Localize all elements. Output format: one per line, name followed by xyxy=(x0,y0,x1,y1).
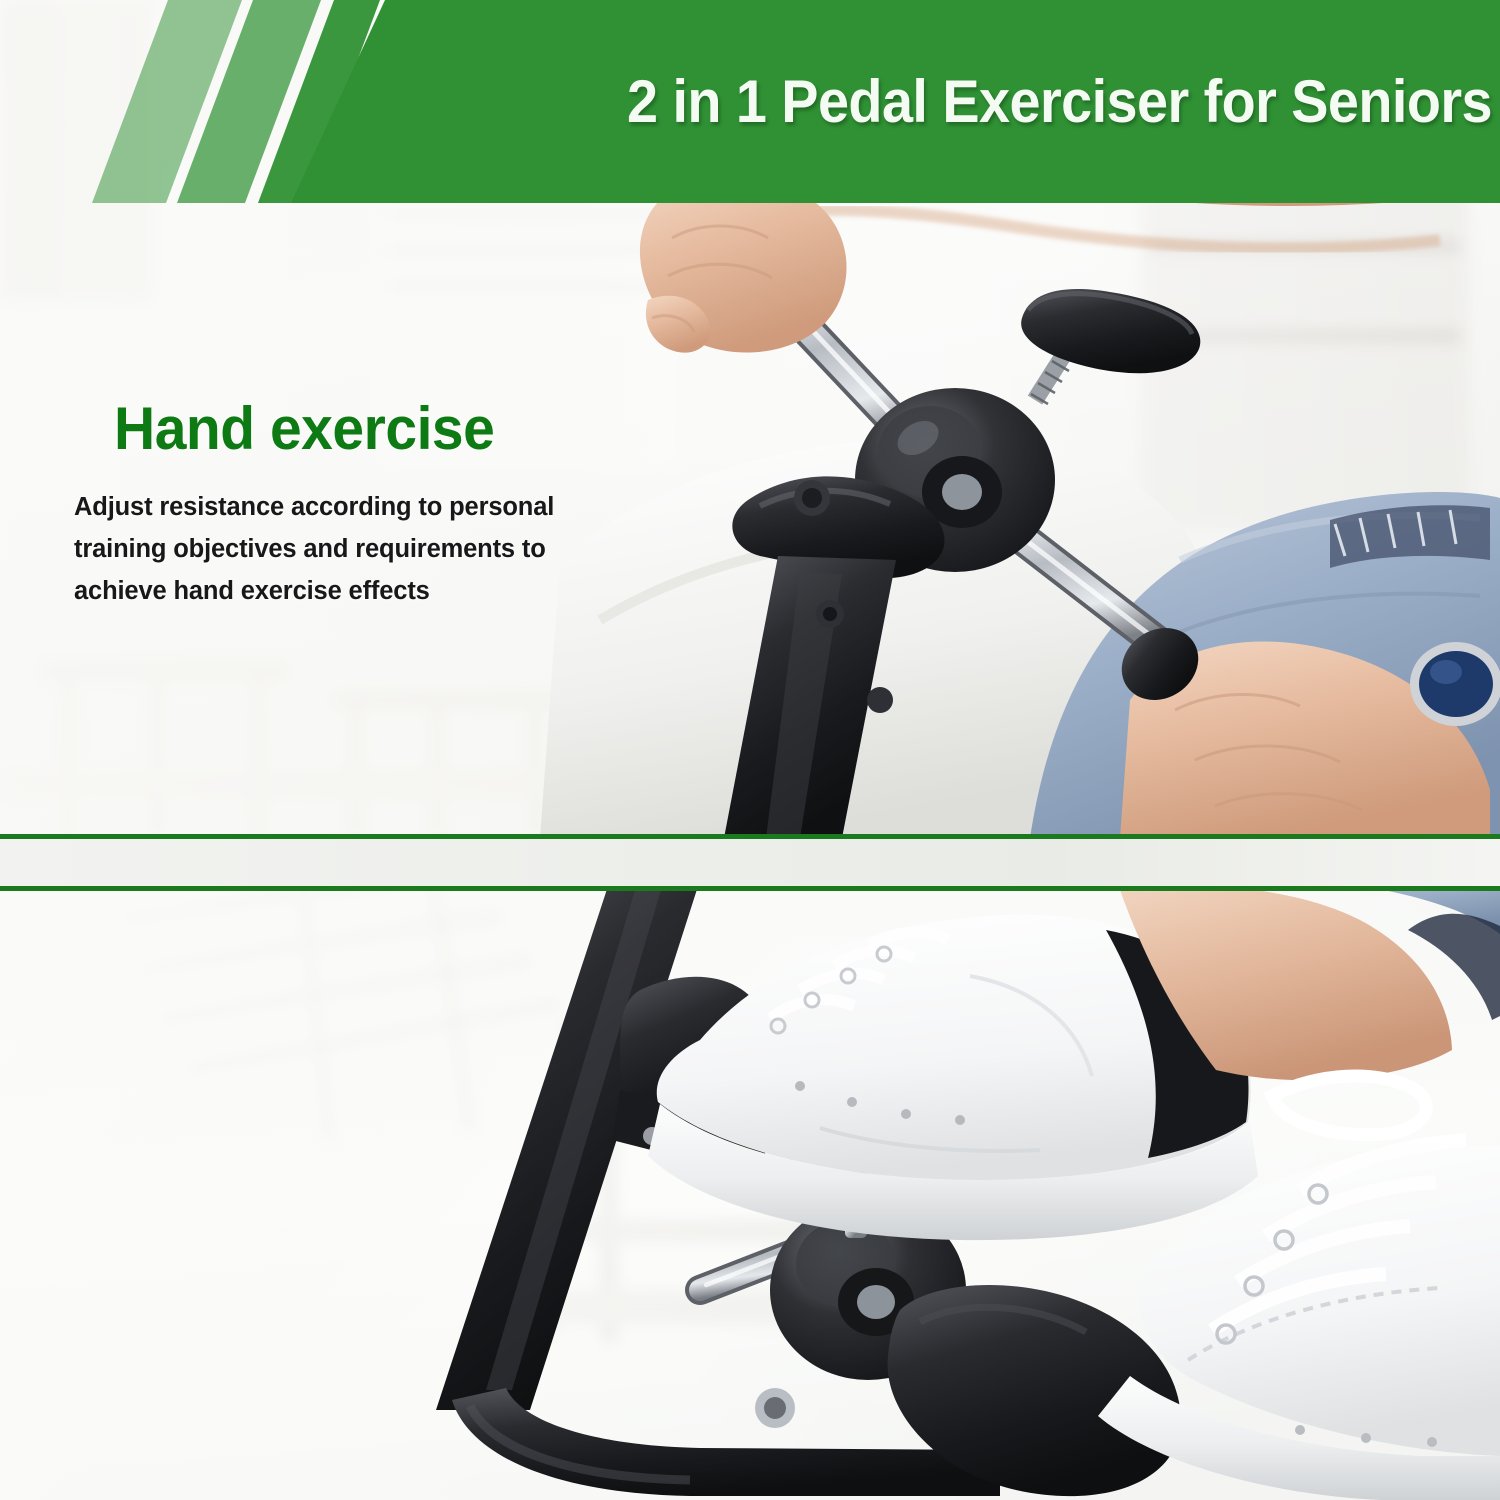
hand-body-line-1: Adjust resistance according to personal xyxy=(74,486,694,528)
hand-exercise-text-block: Hand exercise Adjust resistance accordin… xyxy=(74,398,694,612)
hand-exercise-heading: Hand exercise xyxy=(114,398,665,460)
foot-exercise-photo xyxy=(0,890,1500,1500)
wristwatch xyxy=(1410,642,1500,726)
divider-gap xyxy=(0,839,1500,886)
hand-body-line-2: training objectives and requirements to xyxy=(74,528,694,570)
frame-bolt-upper xyxy=(794,480,830,516)
divider-rule-bottom xyxy=(0,886,1500,891)
section-divider xyxy=(0,830,1500,896)
hand-exercise-body: Adjust resistance according to personal … xyxy=(74,486,694,612)
page-title: 2 in 1 Pedal Exerciser for Seniors xyxy=(458,60,1492,144)
product-infographic-page: Hand exercise Adjust resistance accordin… xyxy=(0,0,1500,1500)
hand-body-line-3: achieve hand exercise effects xyxy=(74,570,694,612)
hand-upper-grip xyxy=(640,178,847,353)
foot-exercise-panel: Foot exercise According to training requ… xyxy=(0,890,1500,1500)
